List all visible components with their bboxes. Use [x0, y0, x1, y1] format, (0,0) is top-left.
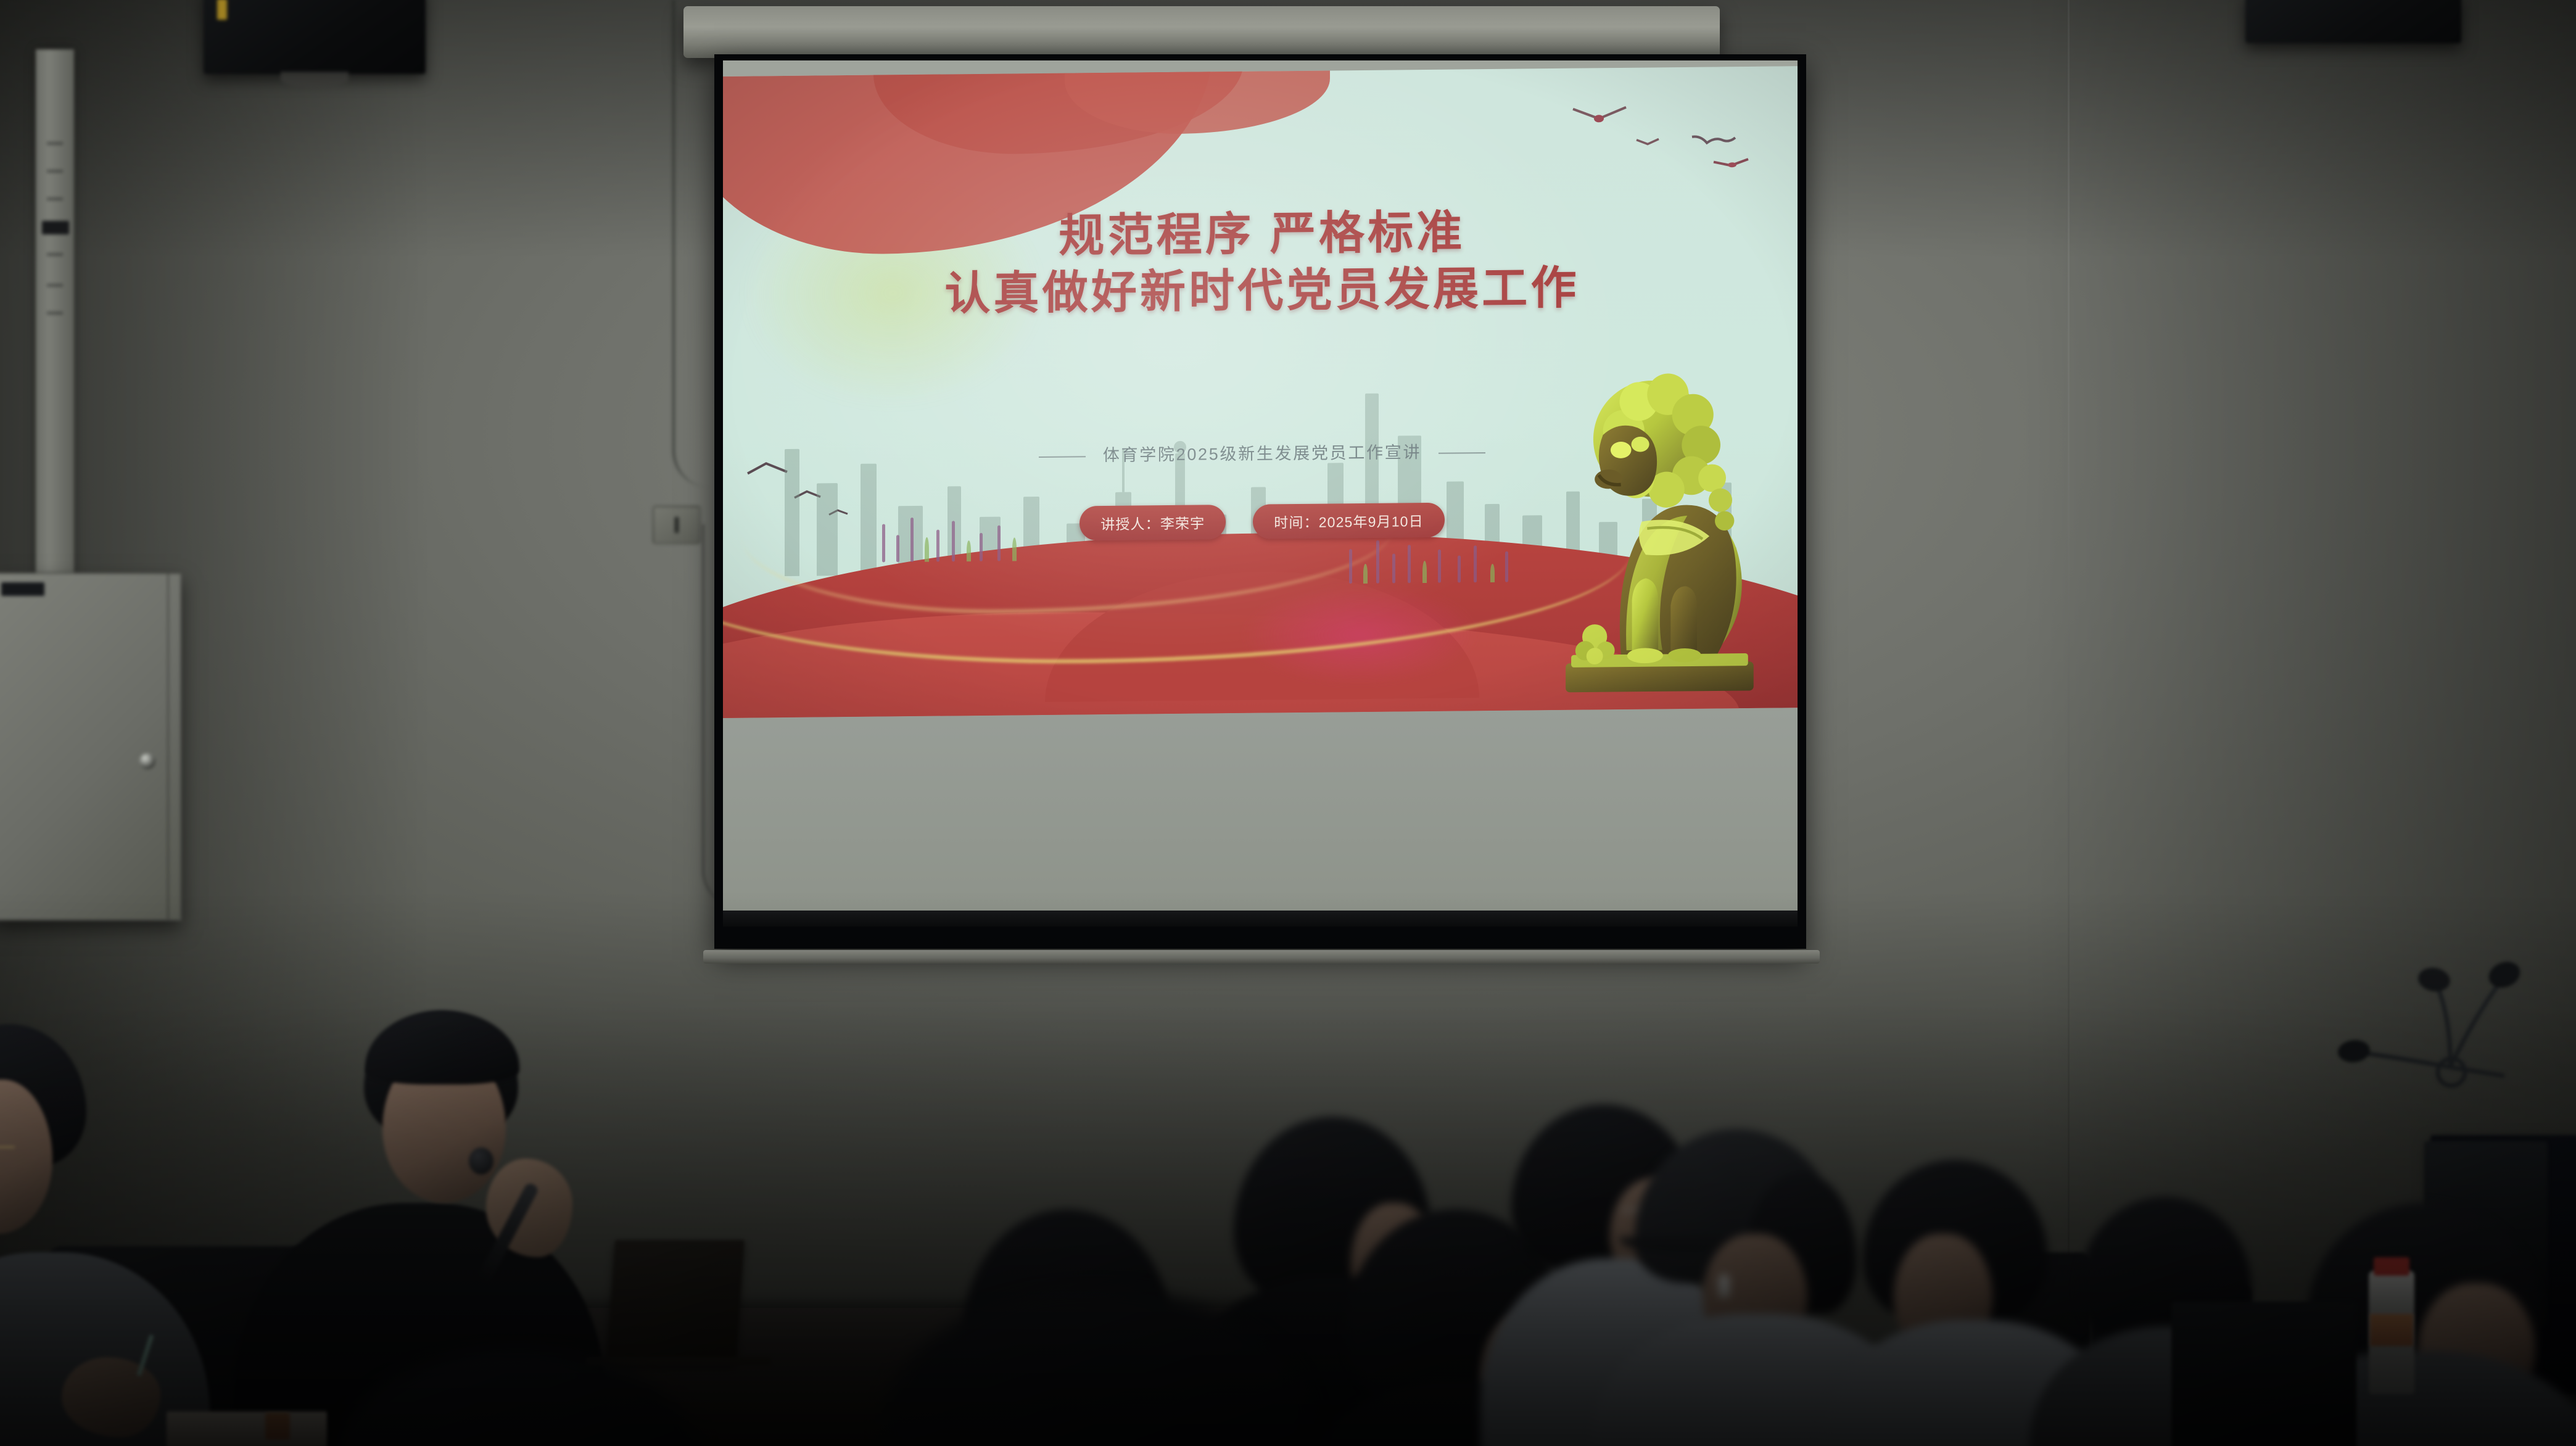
speaker-mount-bracket [281, 72, 349, 88]
cabinet-lock-knob[interactable] [139, 753, 155, 769]
bird-icon [1572, 106, 1629, 128]
ceiling-speaker-left [204, 0, 426, 74]
subtitle-rule-left [1039, 456, 1086, 458]
date-badge: 时间：2025年9月10日 [1253, 503, 1445, 539]
subtitle-rule-right [1439, 452, 1485, 454]
wall-conduit [36, 49, 74, 586]
slide-title-block: 规范程序 严格标准 认真做好新时代党员发展工作 [723, 200, 1798, 324]
classroom-scene: 规范程序 严格标准 认真做好新时代党员发展工作 体育学院2025级新生发展党员工… [0, 0, 2576, 1446]
projector-wall-plate[interactable] [653, 506, 701, 544]
wall-plate-slot [675, 517, 679, 533]
speaker-indicator-led [217, 0, 227, 20]
cabinet-door-seam [167, 574, 169, 919]
slide-title-line-2: 认真做好新时代党员发展工作 [723, 257, 1798, 324]
slide-subtitle-text: 体育学院2025级新生发展党员工作宣讲 [1103, 443, 1421, 465]
slide-title-line-1: 规范程序 严格标准 [723, 200, 1798, 268]
bird-icon [1635, 138, 1660, 147]
presenter-badge: 讲授人：李荣宇 [1080, 505, 1226, 540]
projected-slide: 规范程序 严格标准 认真做好新时代党员发展工作 体育学院2025级新生发展党员工… [723, 66, 1798, 718]
bird-icon [1712, 157, 1749, 168]
cabinet-vent [1, 582, 44, 596]
projection-screen-housing [683, 6, 1720, 58]
ceiling-speaker-right [2245, 0, 2461, 43]
bird-icon [1691, 134, 1736, 151]
electrical-cabinet[interactable] [0, 572, 181, 920]
projection-screen-surface: 规范程序 严格标准 认真做好新时代党员发展工作 体育学院2025级新生发展党员工… [723, 60, 1798, 927]
projection-screen: 规范程序 严格标准 认真做好新时代党员发展工作 体育学院2025级新生发展党员工… [714, 54, 1806, 949]
